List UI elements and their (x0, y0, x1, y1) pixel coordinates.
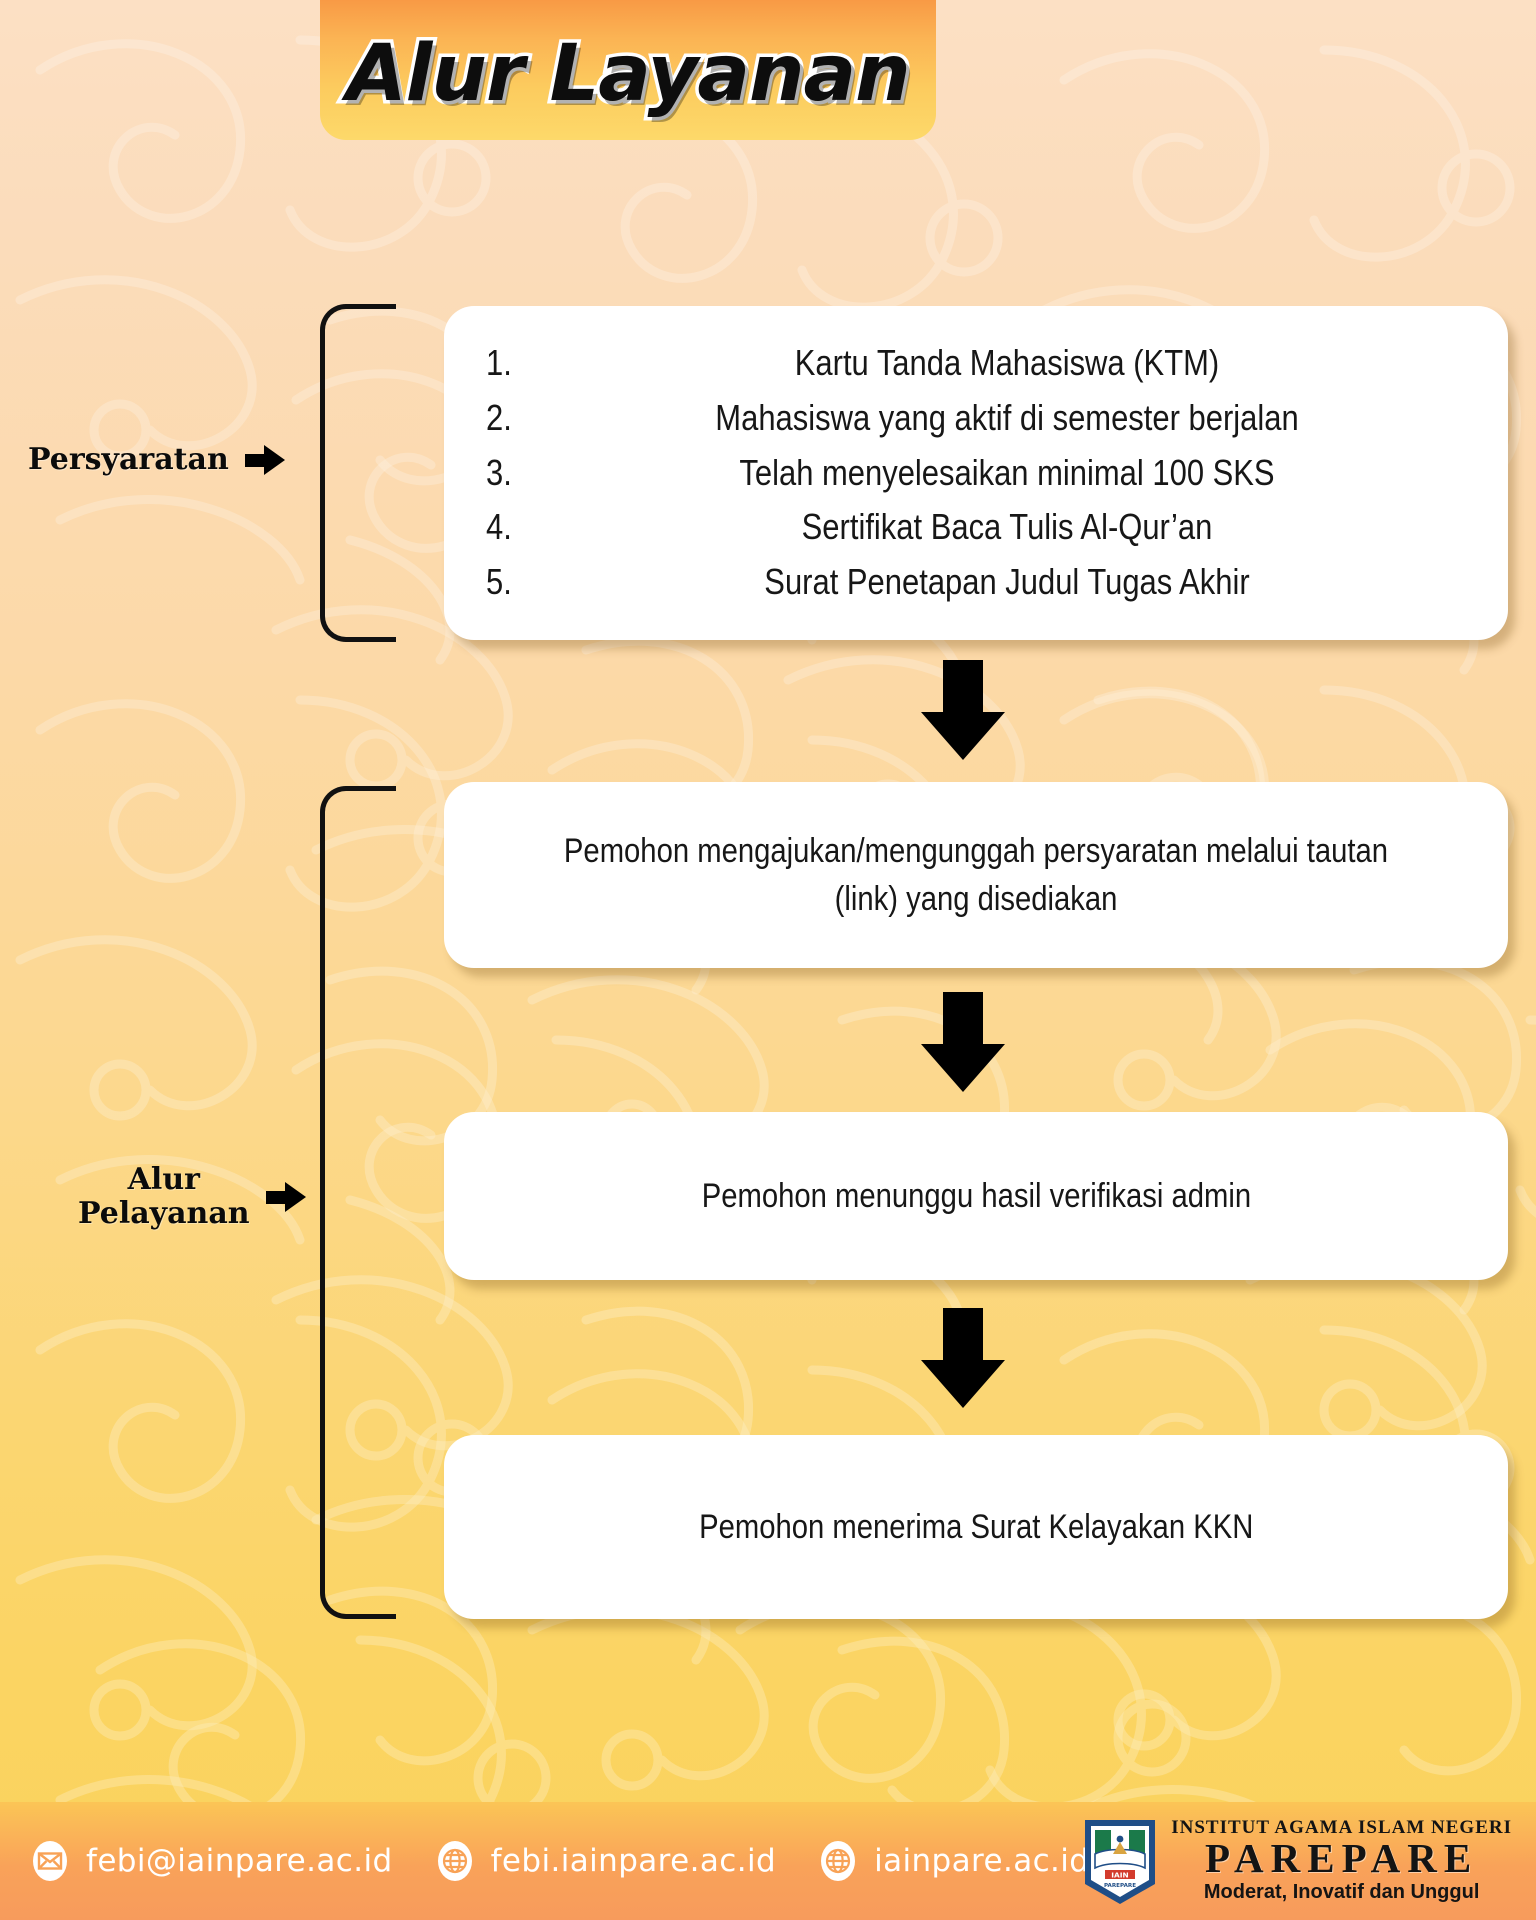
contact-website-iainpare-text: iainpare.ac.id (874, 1843, 1089, 1879)
flow-step-1-label: Pemohon mengajukan/mengunggah persyarata… (548, 827, 1405, 924)
list-item-label: Mahasiswa yang aktif di semester berjala… (611, 391, 1404, 446)
iain-parepare-shield-icon: IAIN PAREPARE (1081, 1814, 1159, 1906)
institution-logo-lockup: IAIN PAREPARE INSTITUT AGAMA ISLAM NEGER… (1081, 1814, 1512, 1906)
flow-step-2-label: Pemohon menunggu hasil verifikasi admin (701, 1172, 1250, 1220)
list-item-number: 4. (486, 500, 538, 555)
title-banner: Alur Layanan (320, 0, 936, 140)
list-item-number: 3. (486, 446, 538, 501)
list-item: 2. Mahasiswa yang aktif di semester berj… (486, 391, 1468, 446)
requirements-list: 1. Kartu Tanda Mahasiswa (KTM) 2. Mahasi… (444, 310, 1508, 636)
flow-step-3-label: Pemohon menerima Surat Kelayakan KKN (699, 1503, 1253, 1551)
poster-canvas: Alur Layanan Persyaratan Alur Pelayanan … (0, 0, 1536, 1920)
bracket-alur-pelayanan (320, 786, 396, 1619)
contact-email-text: febi@iainpare.ac.id (86, 1843, 393, 1879)
list-item-label: Sertifikat Baca Tulis Al-Qur’an (611, 500, 1404, 555)
list-item-label: Kartu Tanda Mahasiswa (KTM) (611, 336, 1404, 391)
arrow-down-icon (921, 660, 1005, 760)
list-item-label: Surat Penetapan Judul Tugas Akhir (611, 555, 1404, 610)
globe-icon (816, 1839, 860, 1883)
flow-step-3-box: Pemohon menerima Surat Kelayakan KKN (444, 1435, 1508, 1619)
flow-step-2-box: Pemohon menunggu hasil verifikasi admin (444, 1112, 1508, 1280)
contact-website-iainpare[interactable]: iainpare.ac.id (816, 1839, 1089, 1883)
persyaratan-label-text: Persyaratan (28, 443, 229, 477)
list-item: 5. Surat Penetapan Judul Tugas Akhir (486, 555, 1468, 610)
flow-step-1-box: Pemohon mengajukan/mengunggah persyarata… (444, 782, 1508, 968)
contact-website-febi-text: febi.iainpare.ac.id (491, 1843, 776, 1879)
requirements-box: 1. Kartu Tanda Mahasiswa (KTM) 2. Mahasi… (444, 306, 1508, 640)
list-item-number: 2. (486, 391, 538, 446)
page-title: Alur Layanan (346, 29, 909, 119)
envelope-icon (28, 1839, 72, 1883)
institution-tagline: Moderat, Inovatif dan Unggul (1204, 1882, 1480, 1902)
arrow-right-icon (245, 445, 285, 475)
bracket-persyaratan (320, 304, 396, 642)
svg-text:PAREPARE: PAREPARE (1104, 1883, 1136, 1889)
list-item-number: 5. (486, 555, 538, 610)
section-label-persyaratan: Persyaratan (28, 443, 285, 477)
section-label-alur-pelayanan: Alur Pelayanan (78, 1163, 306, 1230)
contact-email[interactable]: febi@iainpare.ac.id (28, 1839, 393, 1883)
alur-pelayanan-label-text: Alur Pelayanan (78, 1163, 250, 1230)
globe-icon (433, 1839, 477, 1883)
institution-line-2: PAREPARE (1205, 1838, 1478, 1879)
list-item: 3. Telah menyelesaikan minimal 100 SKS (486, 446, 1468, 501)
list-item: 1. Kartu Tanda Mahasiswa (KTM) (486, 336, 1468, 391)
contact-website-febi[interactable]: febi.iainpare.ac.id (433, 1839, 776, 1883)
arrow-down-icon (921, 1308, 1005, 1408)
list-item-label: Telah menyelesaikan minimal 100 SKS (611, 446, 1404, 501)
list-item-number: 1. (486, 336, 538, 391)
list-item: 4. Sertifikat Baca Tulis Al-Qur’an (486, 500, 1468, 555)
institution-name-block: INSTITUT AGAMA ISLAM NEGERI PAREPARE Mod… (1171, 1818, 1512, 1902)
footer-bar: febi@iainpare.ac.id febi.iainpare.ac.id (0, 1802, 1536, 1920)
svg-text:IAIN: IAIN (1112, 1871, 1129, 1880)
arrow-right-icon (266, 1182, 306, 1212)
arrow-down-icon (921, 992, 1005, 1092)
